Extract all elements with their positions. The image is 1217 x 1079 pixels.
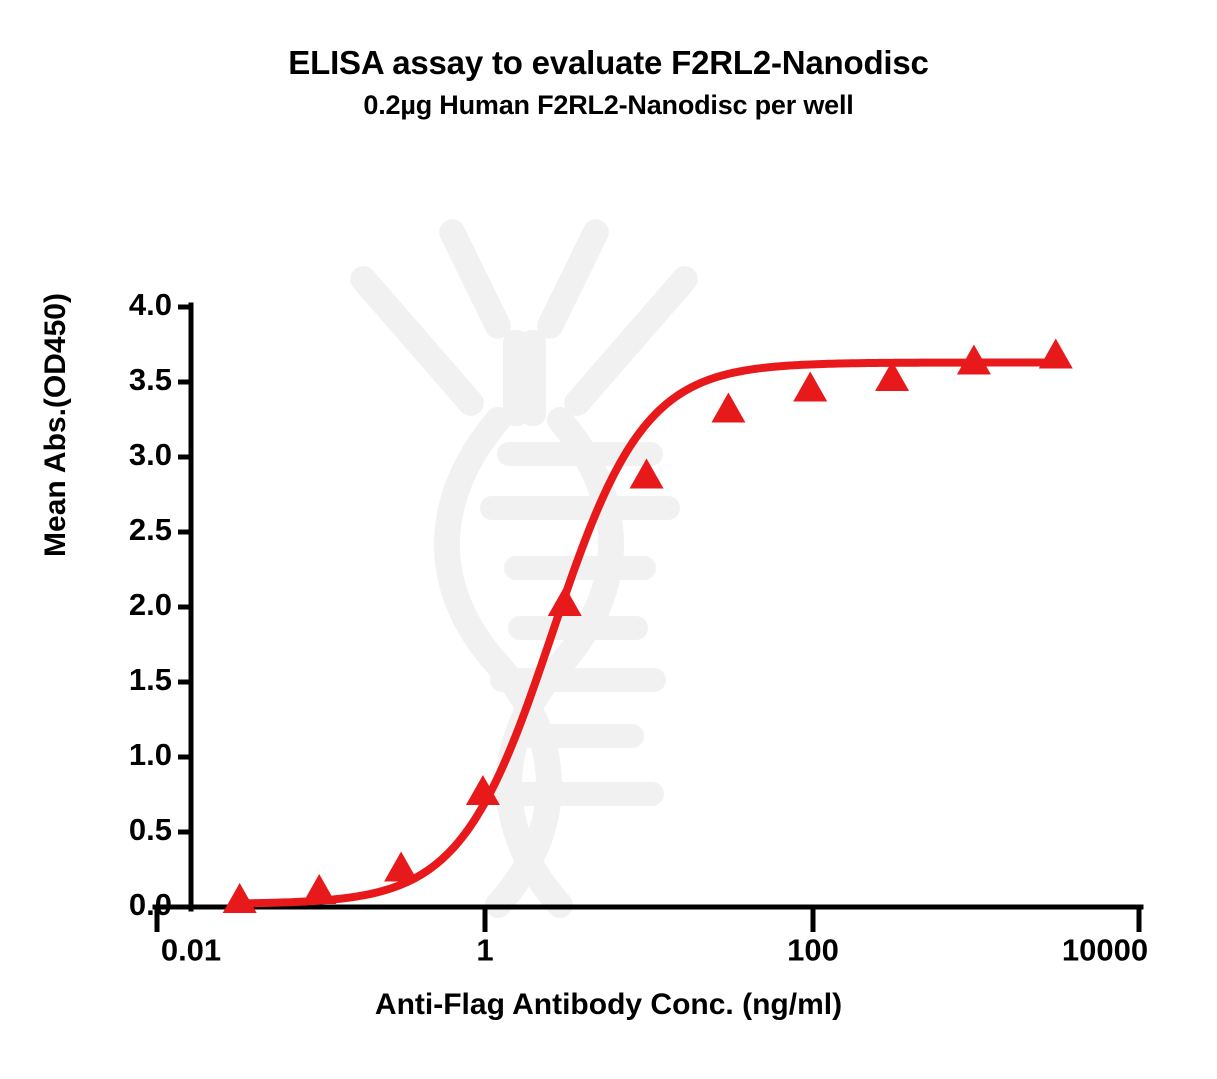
y-tick-label: 2.5: [129, 512, 172, 547]
x-tick-label: 100: [787, 932, 839, 967]
data-point-marker: [711, 393, 745, 423]
y-tick-label: 1.0: [129, 737, 172, 772]
x-tick-label: 10000: [1062, 932, 1148, 967]
data-point-marker: [630, 459, 664, 489]
data-point-marker: [1039, 339, 1073, 369]
x-axis-tick-labels: 0.01 1 100 10000: [161, 932, 1148, 967]
y-tick-label: 0.5: [129, 812, 172, 847]
data-point-marker: [384, 852, 418, 882]
y-tick-label: 3.5: [129, 362, 172, 397]
y-tick-label: 2.0: [129, 587, 172, 622]
fit-curve: [234, 363, 1057, 904]
y-tick-label: 3.0: [129, 437, 172, 472]
data-point-marker: [223, 883, 257, 913]
x-tick-label: 1: [476, 932, 493, 967]
y-axis-title: Mean Abs.(OD450): [39, 125, 73, 725]
data-point-marker: [548, 586, 582, 616]
x-tick-label: 0.01: [161, 932, 221, 967]
data-point-marker: [793, 372, 827, 402]
x-axis-ticks: [157, 907, 1139, 932]
y-tick-label: 1.5: [129, 662, 172, 697]
y-axis-tick-labels: 4.0 3.5 3.0 2.5 2.0 1.5 1.0 0.5 0.0: [129, 287, 172, 922]
plot-area: 4.0 3.5 3.0 2.5 2.0 1.5 1.0 0.5 0.0: [0, 0, 1217, 1079]
y-tick-label: 4.0: [129, 287, 172, 322]
chart-figure: ELISA assay to evaluate F2RL2-Nanodisc 0…: [0, 0, 1217, 1079]
data-point-marker: [302, 874, 336, 904]
x-axis-title: Anti-Flag Antibody Conc. (ng/ml): [0, 988, 1217, 1022]
